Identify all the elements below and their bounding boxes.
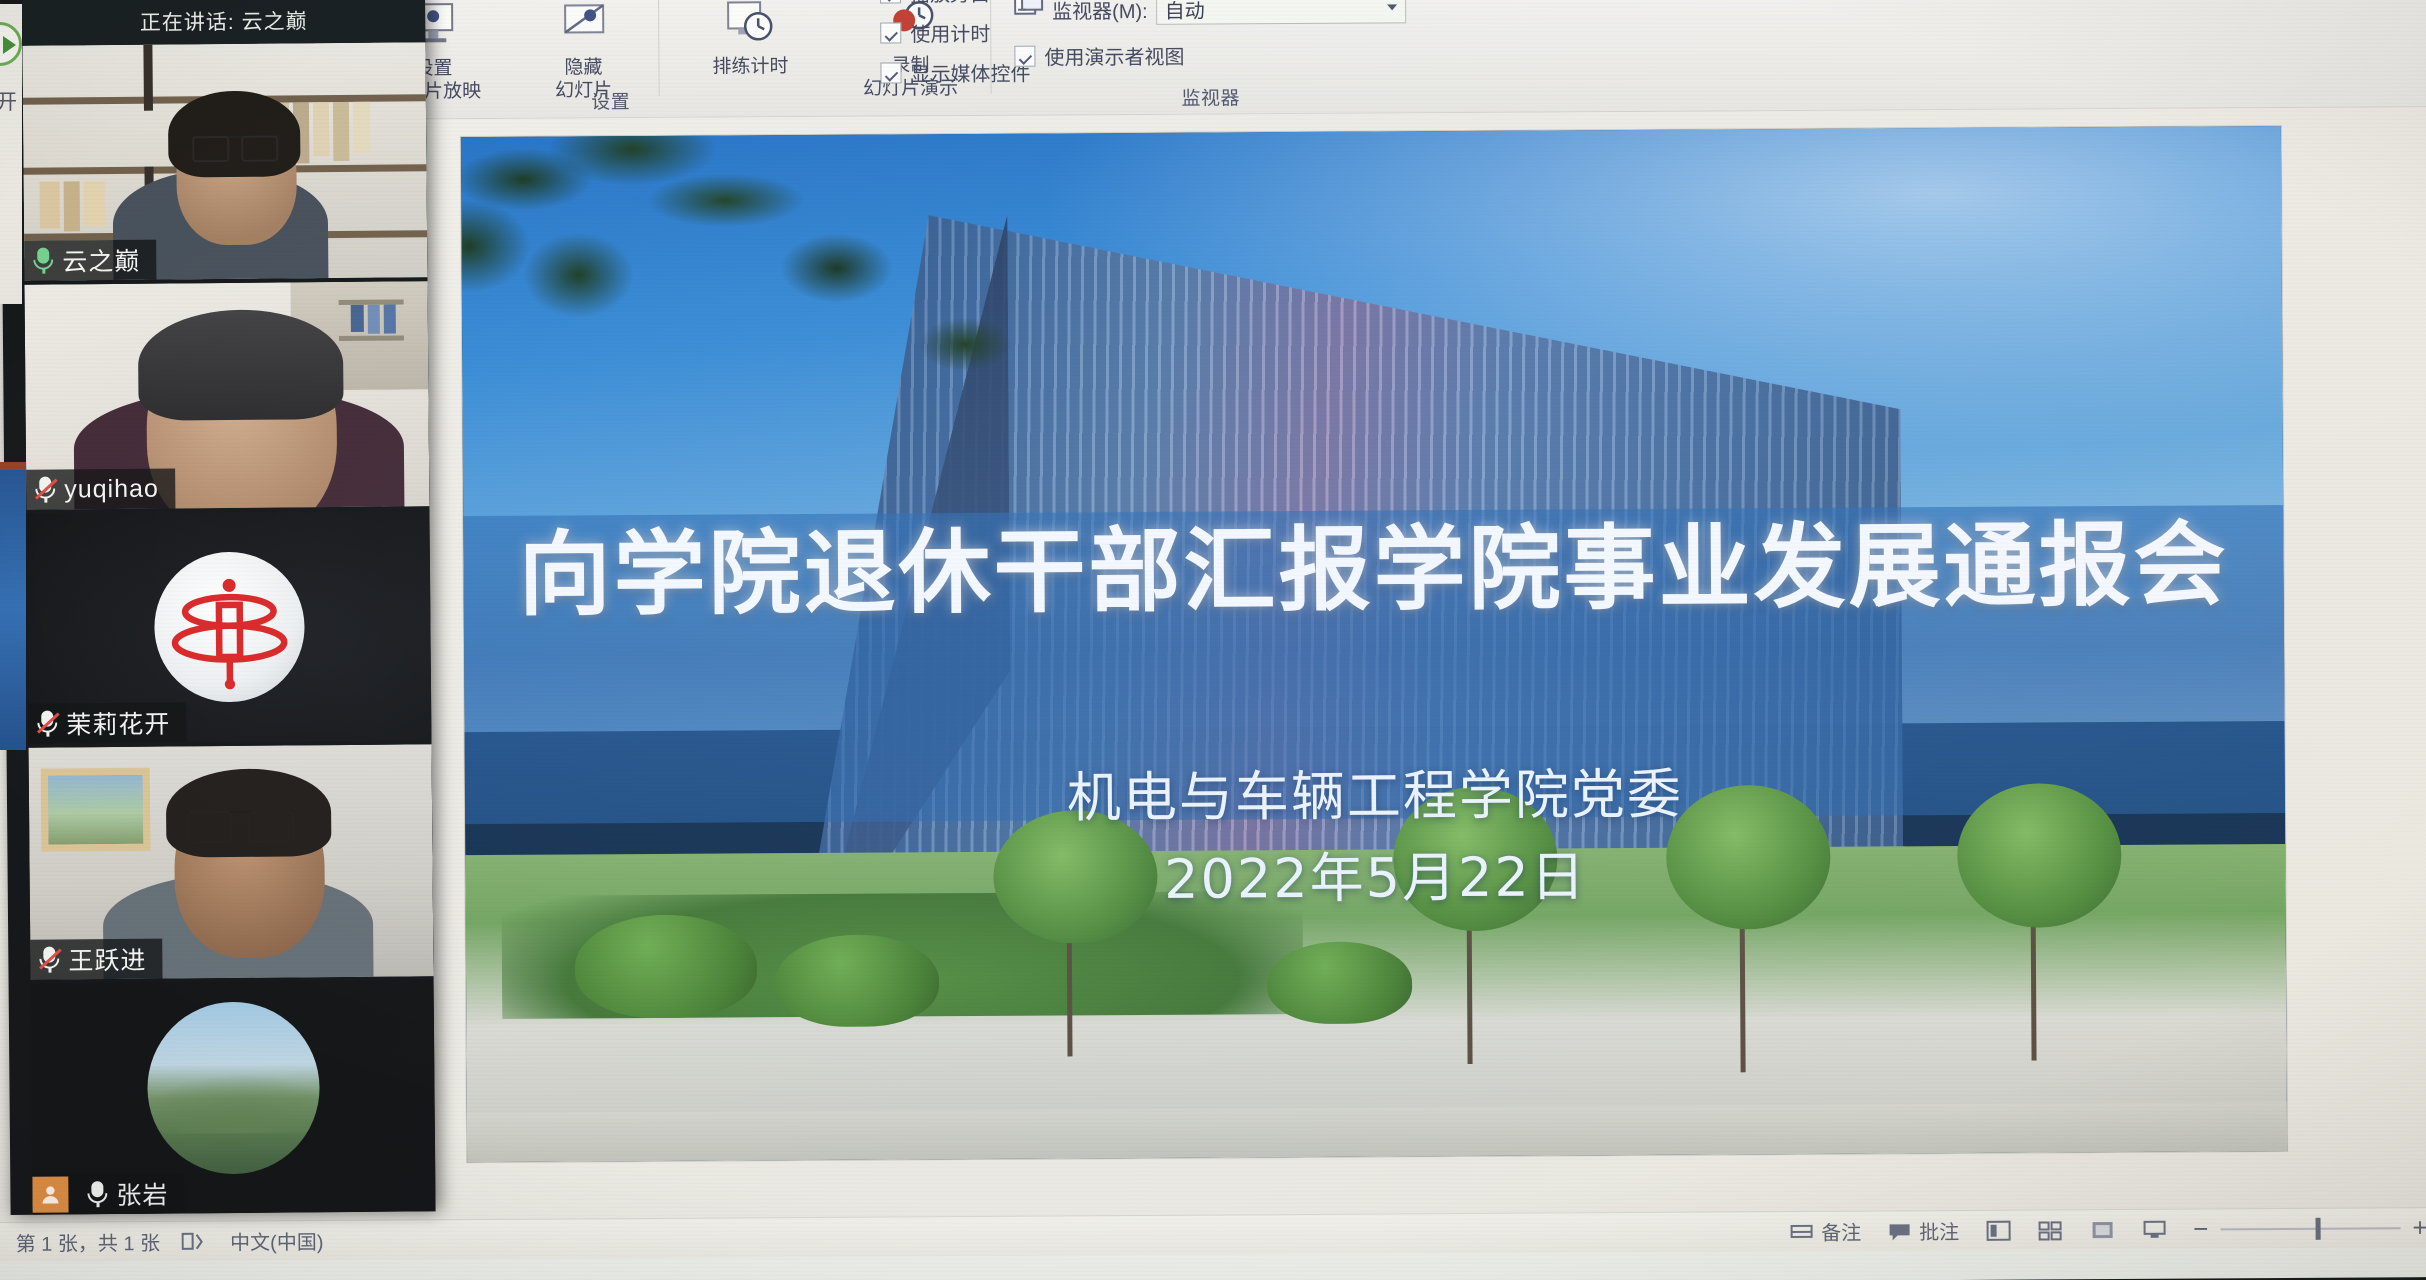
zoom-in-button[interactable]: + <box>2412 1212 2426 1243</box>
rehearse-timings-button[interactable]: 排练计时 <box>670 0 831 79</box>
ground-pavement <box>467 1102 2287 1162</box>
checkbox-presenter-view-label: 使用演示者视图 <box>1044 41 1184 71</box>
zoom-out-button[interactable]: − <box>2193 1213 2208 1244</box>
participant-name: 茉莉花开 <box>66 705 170 742</box>
bush <box>1267 941 1413 1024</box>
ribbon-group-setup: 设置 幻灯片放映 隐藏 幻灯片 <box>350 0 991 120</box>
participant-label: 张岩 <box>32 1173 184 1214</box>
screenshot-root: 设置 幻灯片放映 隐藏 幻灯片 <box>0 0 2426 1280</box>
bush <box>775 934 939 1027</box>
ribbon-group-monitor-title: 监视器 <box>1001 82 1421 112</box>
notes-button[interactable]: 备注 <box>1789 1217 1861 1246</box>
participant-label: 王跃进 <box>30 939 162 980</box>
slide-count[interactable]: 第 1 张，共 1 张 <box>16 1227 161 1257</box>
monitor-select-value: 自动 <box>1165 0 1205 23</box>
org-logo-icon <box>153 551 304 702</box>
hide-slide-label-1: 隐藏 <box>564 57 602 78</box>
monitor-row: 监视器(M): 自动 <box>1014 0 1406 26</box>
slideshow-view-icon[interactable] <box>2141 1218 2167 1240</box>
host-person-icon <box>32 1176 68 1212</box>
wall-picture <box>41 768 151 852</box>
tree-trunk <box>1467 910 1473 1064</box>
participant-tile-wangyuejin[interactable]: 王跃进 <box>29 744 434 980</box>
mic-muted-icon <box>38 946 60 974</box>
slide-title: 向学院退休干部汇报学院事业发展通报会 <box>463 490 2284 634</box>
mic-on-icon <box>86 1180 108 1208</box>
mic-muted-icon <box>36 710 58 738</box>
tree-trunk <box>1740 908 1746 1072</box>
spellcheck-icon[interactable] <box>182 1231 208 1251</box>
checkbox-play-narration-label: 播放旁白 <box>910 0 990 7</box>
mic-on-icon <box>32 247 54 275</box>
participant-name: 王跃进 <box>68 941 146 978</box>
slide-sorter-icon[interactable] <box>2037 1219 2063 1241</box>
checkbox-play-narration-box[interactable] <box>880 0 901 4</box>
participant-name: 张岩 <box>116 1176 168 1212</box>
tree-trunk <box>2031 907 2037 1061</box>
chevron-down-icon[interactable] <box>1387 4 1397 10</box>
partial-ribbon-button-label: 开 <box>0 86 17 116</box>
hide-slide-icon <box>518 0 648 53</box>
rehearse-timings-icon <box>670 0 830 52</box>
checkbox-presenter-view-box[interactable] <box>1014 46 1035 67</box>
play-from-start-icon <box>0 22 22 66</box>
participant-tile-yuqihao[interactable]: yuqihao <box>24 281 429 510</box>
left-edge-accent <box>0 462 26 470</box>
checkbox-use-timings[interactable]: 使用计时 <box>880 18 990 48</box>
ribbon-group-monitor: 监视器(M): 自动 使用演示者视图 监视器 <box>1000 0 1421 116</box>
participant-label: 云之巅 <box>24 240 156 281</box>
left-edge-strip <box>0 470 26 750</box>
reading-view-icon[interactable] <box>2089 1219 2115 1241</box>
monitor-select[interactable]: 自动 <box>1156 0 1406 25</box>
comments-button[interactable]: 批注 <box>1887 1216 1959 1245</box>
participant-name: yuqihao <box>64 474 159 504</box>
slide-subtitle-date: 2022年5月22日 <box>465 828 2285 918</box>
participant-tile-molihuakai[interactable]: 茉莉花开 <box>26 510 431 744</box>
monitor-icon <box>1014 0 1044 26</box>
comments-label: 批注 <box>1919 1216 1959 1245</box>
partial-ribbon-button-left[interactable]: 开 <box>0 4 22 304</box>
zoom-slider-handle[interactable] <box>2315 1217 2320 1239</box>
participant-name: 云之巅 <box>62 242 140 279</box>
avatar-photo <box>146 1002 319 1175</box>
zoom-slider[interactable]: − + <box>2193 1212 2426 1244</box>
rehearse-timings-label: 排练计时 <box>712 56 788 77</box>
notes-label: 备注 <box>1821 1217 1861 1246</box>
participant-tile-yunzhidian[interactable]: 云之巅 <box>22 42 427 281</box>
participant-label: 茉莉花开 <box>28 702 186 743</box>
language-indicator[interactable]: 中文(中国) <box>230 1226 324 1256</box>
monitor-label: 监视器(M): <box>1052 0 1148 24</box>
slide-1[interactable]: 向学院退休干部汇报学院事业发展通报会 机电与车辆工程学院党委 2022年5月22… <box>461 126 2287 1162</box>
participant-tile-zhangyan[interactable]: 张岩 <box>31 980 436 1215</box>
video-conference-panel: 正在讲话: 云之巅 <box>0 0 436 1215</box>
slide-subtitle-org: 机电与车辆工程学院党委 <box>465 746 2285 836</box>
mic-muted-icon <box>34 476 56 504</box>
normal-view-icon[interactable] <box>1985 1219 2011 1241</box>
checkbox-play-narration[interactable]: 播放旁白 <box>880 0 990 8</box>
checkbox-use-timings-label: 使用计时 <box>910 18 990 47</box>
bush <box>575 914 758 1018</box>
participant-label: yuqihao <box>26 468 175 509</box>
checkbox-show-media-controls-box[interactable] <box>880 62 901 83</box>
checkbox-presenter-view[interactable]: 使用演示者视图 <box>1014 41 1184 71</box>
checkbox-use-timings-box[interactable] <box>880 22 901 43</box>
active-speaker-banner: 正在讲话: 云之巅 <box>22 0 425 46</box>
zoom-slider-track[interactable] <box>2220 1227 2400 1230</box>
tree-foliage-left-2 <box>716 174 1118 484</box>
